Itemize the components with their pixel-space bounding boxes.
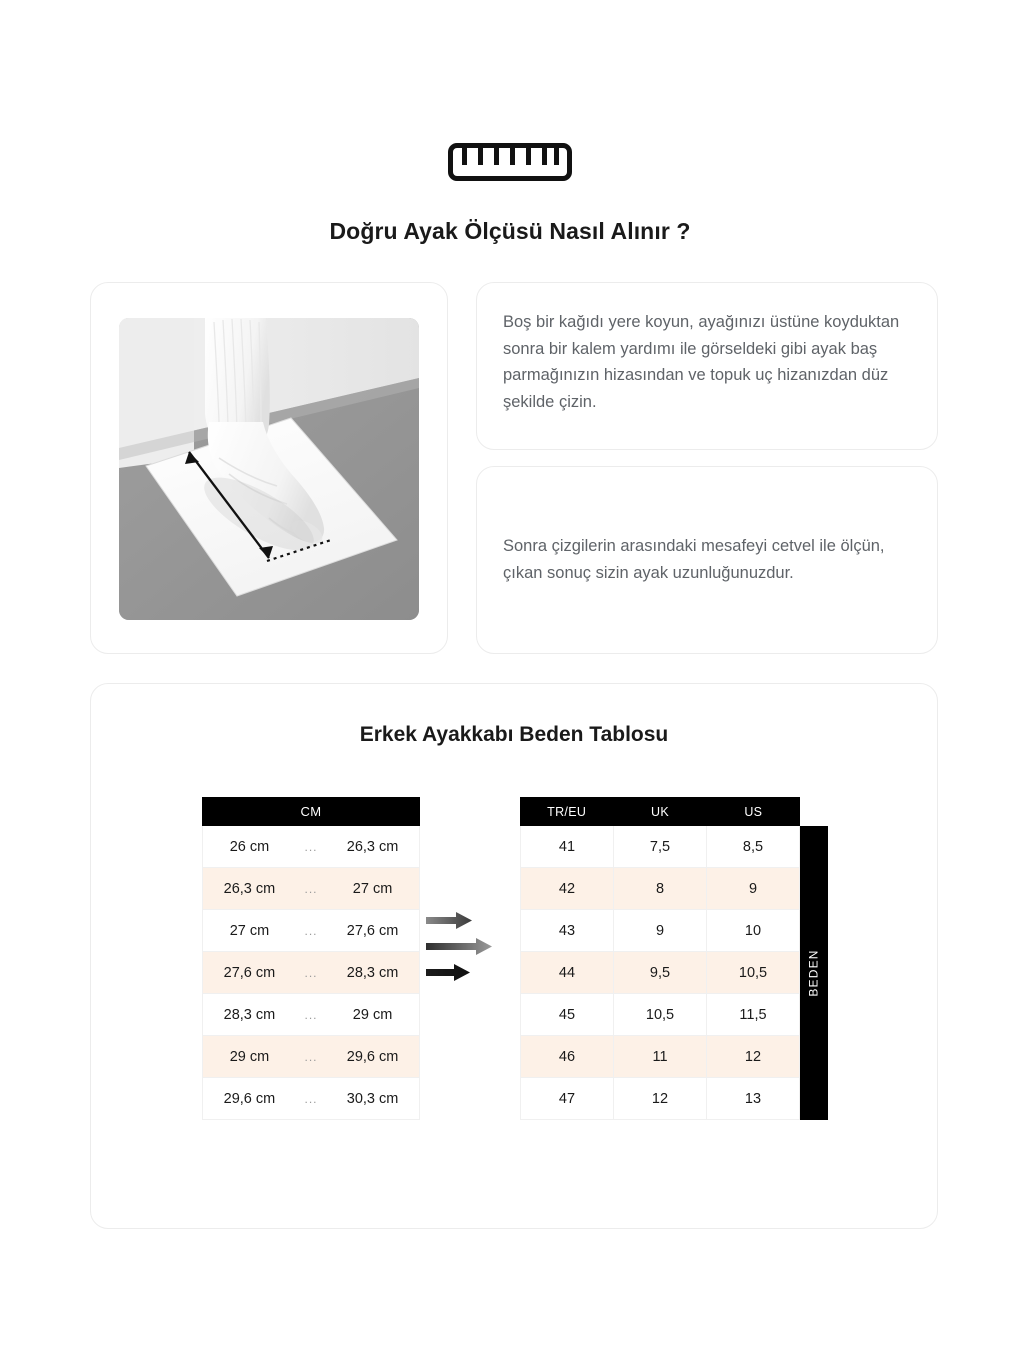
foot-photo-card <box>90 282 448 654</box>
cm-to: 26,3 cm <box>326 839 419 855</box>
size-table: TR/EU UK US 41 7,5 8,5 42 8 9 <box>520 797 800 1120</box>
cm-from: 26,3 cm <box>203 881 296 897</box>
table-row: 41 7,5 8,5 <box>520 826 800 868</box>
cell-uk: 7,5 <box>614 826 707 867</box>
cell-uk: 12 <box>614 1078 707 1119</box>
table-row: 27 cm ... 27,6 cm <box>202 910 420 952</box>
cell-tr-eu: 45 <box>520 994 614 1035</box>
table-row: 43 9 10 <box>520 910 800 952</box>
arrow-right-icon <box>426 938 492 955</box>
cell-tr-eu: 41 <box>520 826 614 867</box>
table-row: 42 8 9 <box>520 868 800 910</box>
cm-from: 26 cm <box>203 839 296 855</box>
cell-uk: 9,5 <box>614 952 707 993</box>
page-title: Doğru Ayak Ölçüsü Nasıl Alınır ? <box>0 218 1020 245</box>
size-chart-card: Erkek Ayakkabı Beden Tablosu CM 26 cm ..… <box>90 683 938 1229</box>
table-row: 44 9,5 10,5 <box>520 952 800 994</box>
cm-to: 29,6 cm <box>326 1049 419 1065</box>
cm-to: 30,3 cm <box>326 1091 419 1107</box>
beden-side-label: BEDEN <box>800 826 828 1120</box>
cm-separator: ... <box>296 924 326 938</box>
cell-us: 10,5 <box>707 952 800 993</box>
size-guide-page: Doğru Ayak Ölçüsü Nasıl Alınır ? <box>0 0 1020 1360</box>
table-row: 29 cm ... 29,6 cm <box>202 1036 420 1078</box>
cell-tr-eu: 43 <box>520 910 614 951</box>
size-tables-row: CM 26 cm ... 26,3 cm 26,3 cm ... 27 cm 2… <box>91 797 939 1120</box>
cell-uk: 8 <box>614 868 707 909</box>
table-row: 26,3 cm ... 27 cm <box>202 868 420 910</box>
table-row: 27,6 cm ... 28,3 cm <box>202 952 420 994</box>
header-us: US <box>707 805 800 819</box>
ruler-icon-container <box>0 143 1020 181</box>
cm-separator: ... <box>296 840 326 854</box>
cell-tr-eu: 46 <box>520 1036 614 1077</box>
cm-from: 28,3 cm <box>203 1007 296 1023</box>
cm-separator: ... <box>296 966 326 980</box>
cm-to: 28,3 cm <box>326 965 419 981</box>
foot-photo-illustration <box>119 318 419 620</box>
cm-table: CM 26 cm ... 26,3 cm 26,3 cm ... 27 cm 2… <box>202 797 420 1120</box>
beden-label-text: BEDEN <box>807 949 821 996</box>
cm-separator: ... <box>296 882 326 896</box>
cell-us: 11,5 <box>707 994 800 1035</box>
arrow-right-icon <box>426 964 470 981</box>
cell-tr-eu: 47 <box>520 1078 614 1119</box>
cell-uk: 10,5 <box>614 994 707 1035</box>
header-tr-eu: TR/EU <box>520 805 613 819</box>
size-table-header: TR/EU UK US <box>520 797 800 826</box>
header-uk: UK <box>613 805 706 819</box>
arrow-right-icon <box>426 912 472 929</box>
cm-to: 27,6 cm <box>326 923 419 939</box>
instruction-step-1-text: Boş bir kağıdı yere koyun, ayağınızı üst… <box>503 309 907 416</box>
foot-on-paper-photo <box>119 318 419 620</box>
ruler-icon <box>448 143 572 181</box>
cm-from: 29 cm <box>203 1049 296 1065</box>
cell-tr-eu: 42 <box>520 868 614 909</box>
size-chart-title: Erkek Ayakkabı Beden Tablosu <box>91 723 937 747</box>
instruction-step-2-text: Sonra çizgilerin arasındaki mesafeyi cet… <box>503 533 907 586</box>
cm-table-header: CM <box>202 797 420 826</box>
cell-us: 10 <box>707 910 800 951</box>
cell-uk: 11 <box>614 1036 707 1077</box>
table-row: 46 11 12 <box>520 1036 800 1078</box>
size-table-wrapper: TR/EU UK US 41 7,5 8,5 42 8 9 <box>520 797 828 1120</box>
table-row: 26 cm ... 26,3 cm <box>202 826 420 868</box>
cell-tr-eu: 44 <box>520 952 614 993</box>
cm-from: 27,6 cm <box>203 965 296 981</box>
cm-separator: ... <box>296 1050 326 1064</box>
table-row: 29,6 cm ... 30,3 cm <box>202 1078 420 1120</box>
cell-us: 9 <box>707 868 800 909</box>
instruction-card-1: Boş bir kağıdı yere koyun, ayağınızı üst… <box>476 282 938 450</box>
cell-us: 12 <box>707 1036 800 1077</box>
table-row: 47 12 13 <box>520 1078 800 1120</box>
instructions-section: Boş bir kağıdı yere koyun, ayağınızı üst… <box>90 282 938 654</box>
cm-separator: ... <box>296 1008 326 1022</box>
table-row: 28,3 cm ... 29 cm <box>202 994 420 1036</box>
cm-to: 27 cm <box>326 881 419 897</box>
instruction-cards: Boş bir kağıdı yere koyun, ayağınızı üst… <box>476 282 938 654</box>
cm-from: 29,6 cm <box>203 1091 296 1107</box>
cm-separator: ... <box>296 1092 326 1106</box>
cell-us: 13 <box>707 1078 800 1119</box>
instruction-card-2: Sonra çizgilerin arasındaki mesafeyi cet… <box>476 466 938 654</box>
cm-to: 29 cm <box>326 1007 419 1023</box>
table-row: 45 10,5 11,5 <box>520 994 800 1036</box>
cell-uk: 9 <box>614 910 707 951</box>
conversion-arrows <box>420 797 520 981</box>
cm-from: 27 cm <box>203 923 296 939</box>
cell-us: 8,5 <box>707 826 800 867</box>
